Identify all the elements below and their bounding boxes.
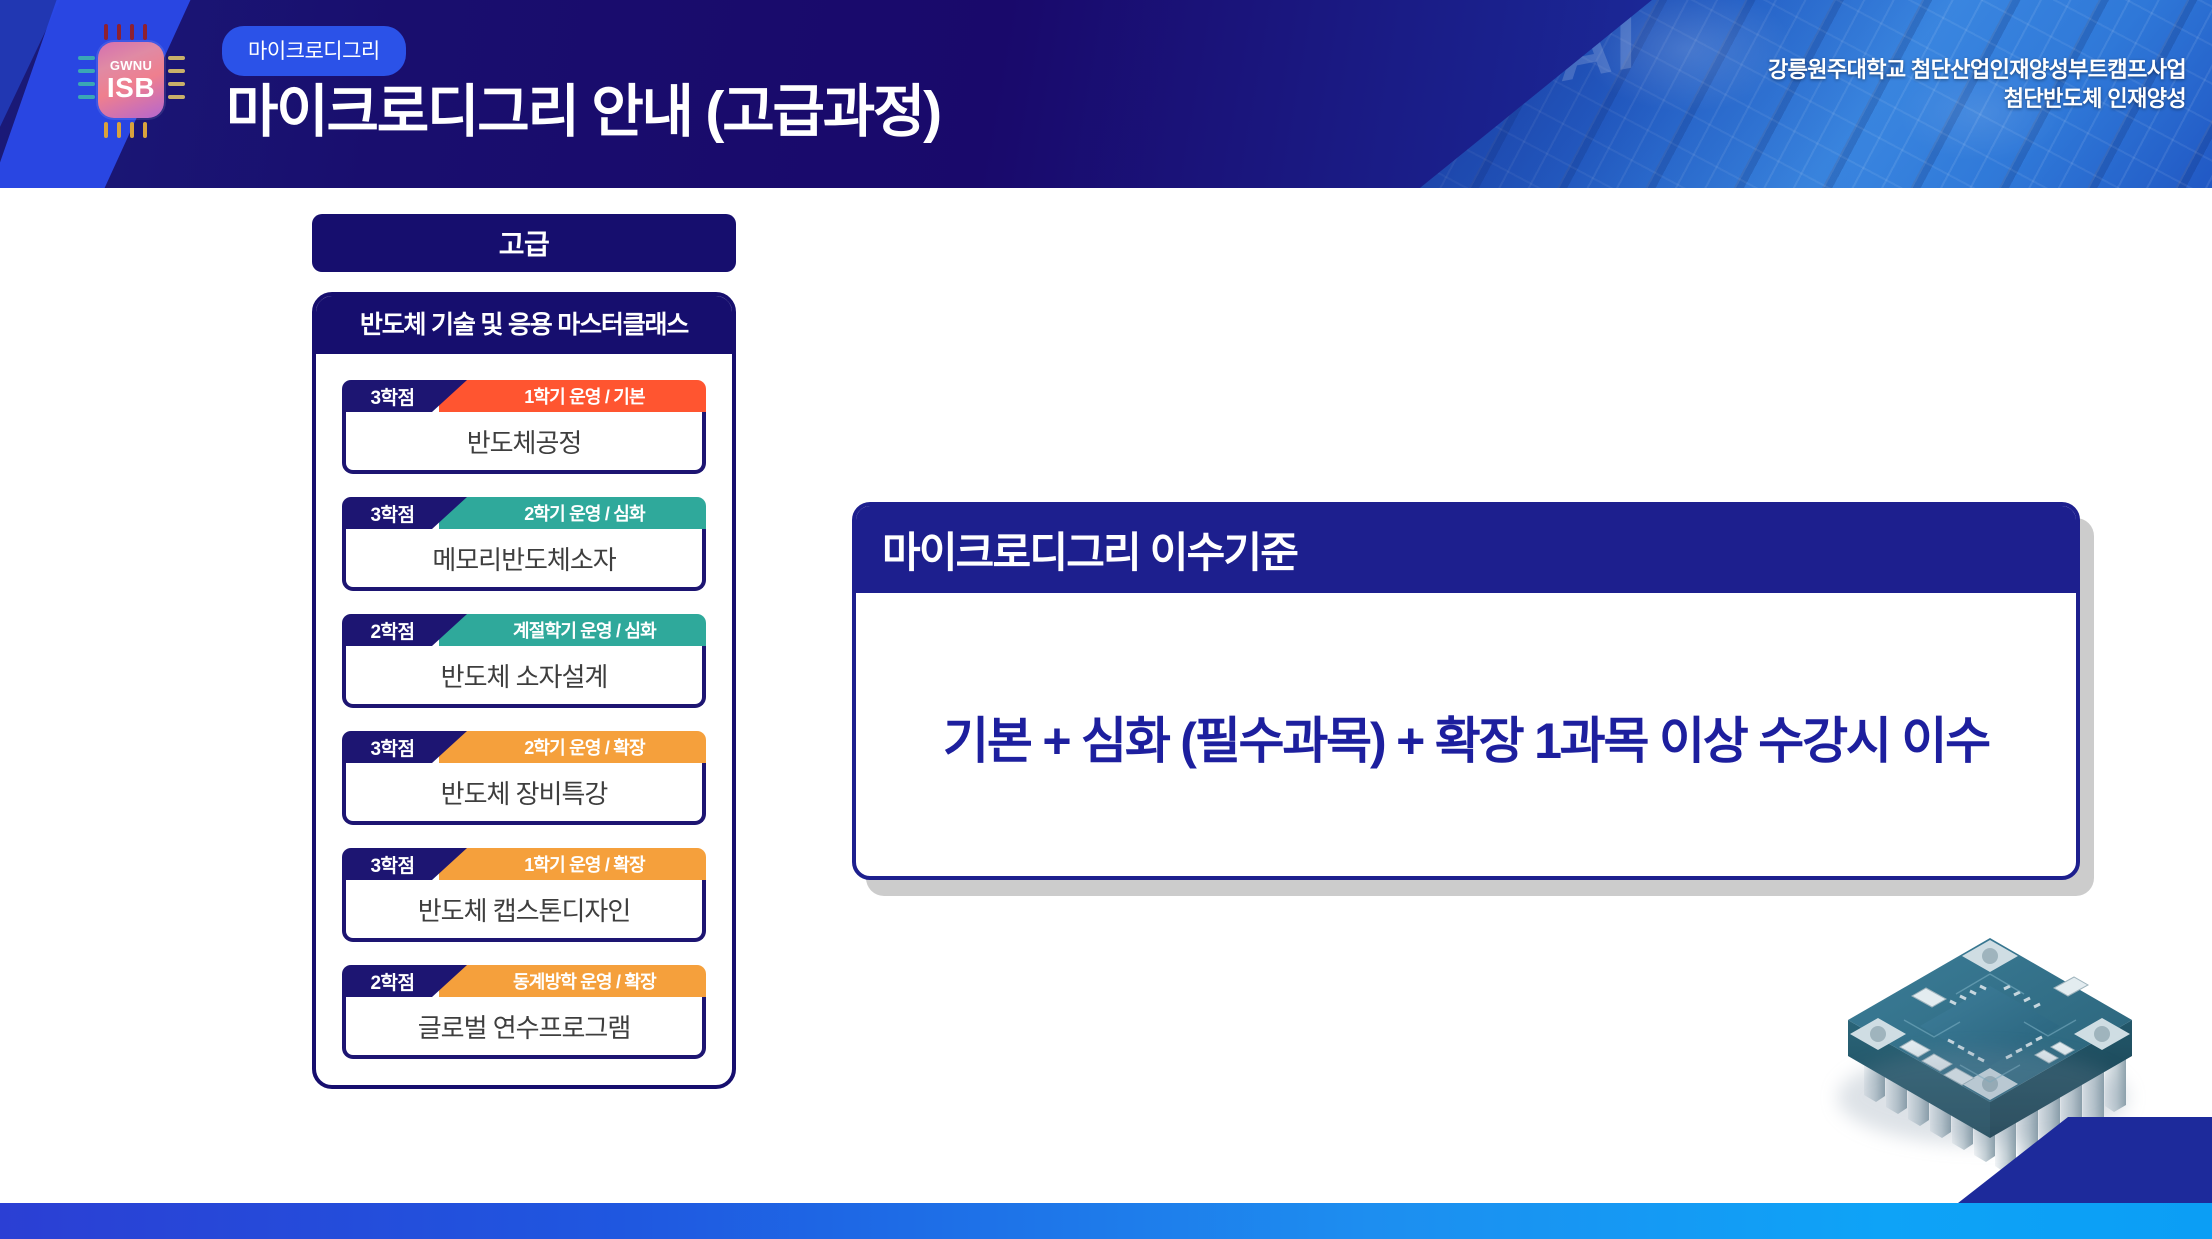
- course-tags: 3학점 2학기 운영 / 확장: [342, 731, 706, 763]
- course-column: 고급 반도체 기술 및 응용 마스터클래스 3학점 1학기 운영 / 기본 반도…: [312, 214, 736, 1089]
- term-tag: 2학기 운영 / 확장: [439, 731, 706, 763]
- course-name: 반도체공정: [342, 412, 706, 474]
- course-tags: 3학점 2학기 운영 / 심화: [342, 497, 706, 529]
- course-card[interactable]: 3학점 2학기 운영 / 심화 메모리반도체소자: [342, 497, 706, 591]
- organization-line-1: 강릉원주대학교 첨단산업인재양성부트캠프사업: [1768, 56, 2186, 85]
- criteria-panel: 마이크로디그리 이수기준 기본 + 심화 (필수과목) + 확장 1과목 이상 …: [852, 502, 2080, 880]
- course-tags: 2학점 계절학기 운영 / 심화: [342, 614, 706, 646]
- term-tag: 2학기 운영 / 심화: [439, 497, 706, 529]
- track-title: 반도체 기술 및 응용 마스터클래스: [316, 296, 732, 354]
- logo-chip-body: GWNU ISB: [98, 42, 164, 118]
- organization-line-2: 첨단반도체 인재양성: [1768, 85, 2186, 114]
- logo-pins-bottom: [104, 122, 147, 138]
- course-name: 반도체 캡스톤디자인: [342, 880, 706, 942]
- level-badge: 고급: [312, 214, 736, 272]
- slide-root: AI 강릉원주대학교 첨단산업인재양성부트캠프사업 첨단반도체 인재양성: [0, 0, 2212, 1239]
- course-tags: 3학점 1학기 운영 / 확장: [342, 848, 706, 880]
- page-title: 마이크로디그리 안내 (고급과정): [226, 66, 940, 148]
- term-tag: 1학기 운영 / 확장: [439, 848, 706, 880]
- course-card[interactable]: 3학점 2학기 운영 / 확장 반도체 장비특강: [342, 731, 706, 825]
- organization-text: 강릉원주대학교 첨단산업인재양성부트캠프사업 첨단반도체 인재양성: [1768, 56, 2186, 113]
- track-container: 반도체 기술 및 응용 마스터클래스 3학점 1학기 운영 / 기본 반도체공정…: [312, 292, 736, 1089]
- logo-pins-right: [168, 56, 185, 99]
- criteria-text: 기본 + 심화 (필수과목) + 확장 1과목 이상 수강시 이수: [943, 701, 1989, 773]
- term-tag: 1학기 운영 / 기본: [439, 380, 706, 412]
- criteria-panel-title: 마이크로디그리 이수기준: [856, 506, 2076, 593]
- footer-bar: [0, 1203, 2212, 1239]
- course-tags: 2학점 동계방학 운영 / 확장: [342, 965, 706, 997]
- slide-header: AI 강릉원주대학교 첨단산업인재양성부트캠프사업 첨단반도체 인재양성: [0, 0, 2212, 188]
- term-tag: 계절학기 운영 / 심화: [439, 614, 706, 646]
- course-name: 글로벌 연수프로그램: [342, 997, 706, 1059]
- logo-gwnu-text: GWNU: [110, 59, 152, 72]
- gwnu-isb-chip-logo: GWNU ISB: [72, 22, 190, 138]
- course-name: 반도체 소자설계: [342, 646, 706, 708]
- course-list: 3학점 1학기 운영 / 기본 반도체공정 3학점 2학기 운영 / 심화 메모…: [316, 354, 732, 1059]
- logo-pins-left: [78, 56, 95, 99]
- logo-pins-top: [104, 24, 147, 40]
- course-card[interactable]: 3학점 1학기 운영 / 기본 반도체공정: [342, 380, 706, 474]
- logo-isb-text: ISB: [107, 74, 155, 102]
- course-tags: 3학점 1학기 운영 / 기본: [342, 380, 706, 412]
- course-name: 메모리반도체소자: [342, 529, 706, 591]
- course-card[interactable]: 2학점 계절학기 운영 / 심화 반도체 소자설계: [342, 614, 706, 708]
- course-card[interactable]: 3학점 1학기 운영 / 확장 반도체 캡스톤디자인: [342, 848, 706, 942]
- course-card[interactable]: 2학점 동계방학 운영 / 확장 글로벌 연수프로그램: [342, 965, 706, 1059]
- term-tag: 동계방학 운영 / 확장: [439, 965, 706, 997]
- course-name: 반도체 장비특강: [342, 763, 706, 825]
- criteria-panel-body: 기본 + 심화 (필수과목) + 확장 1과목 이상 수강시 이수: [856, 593, 2076, 880]
